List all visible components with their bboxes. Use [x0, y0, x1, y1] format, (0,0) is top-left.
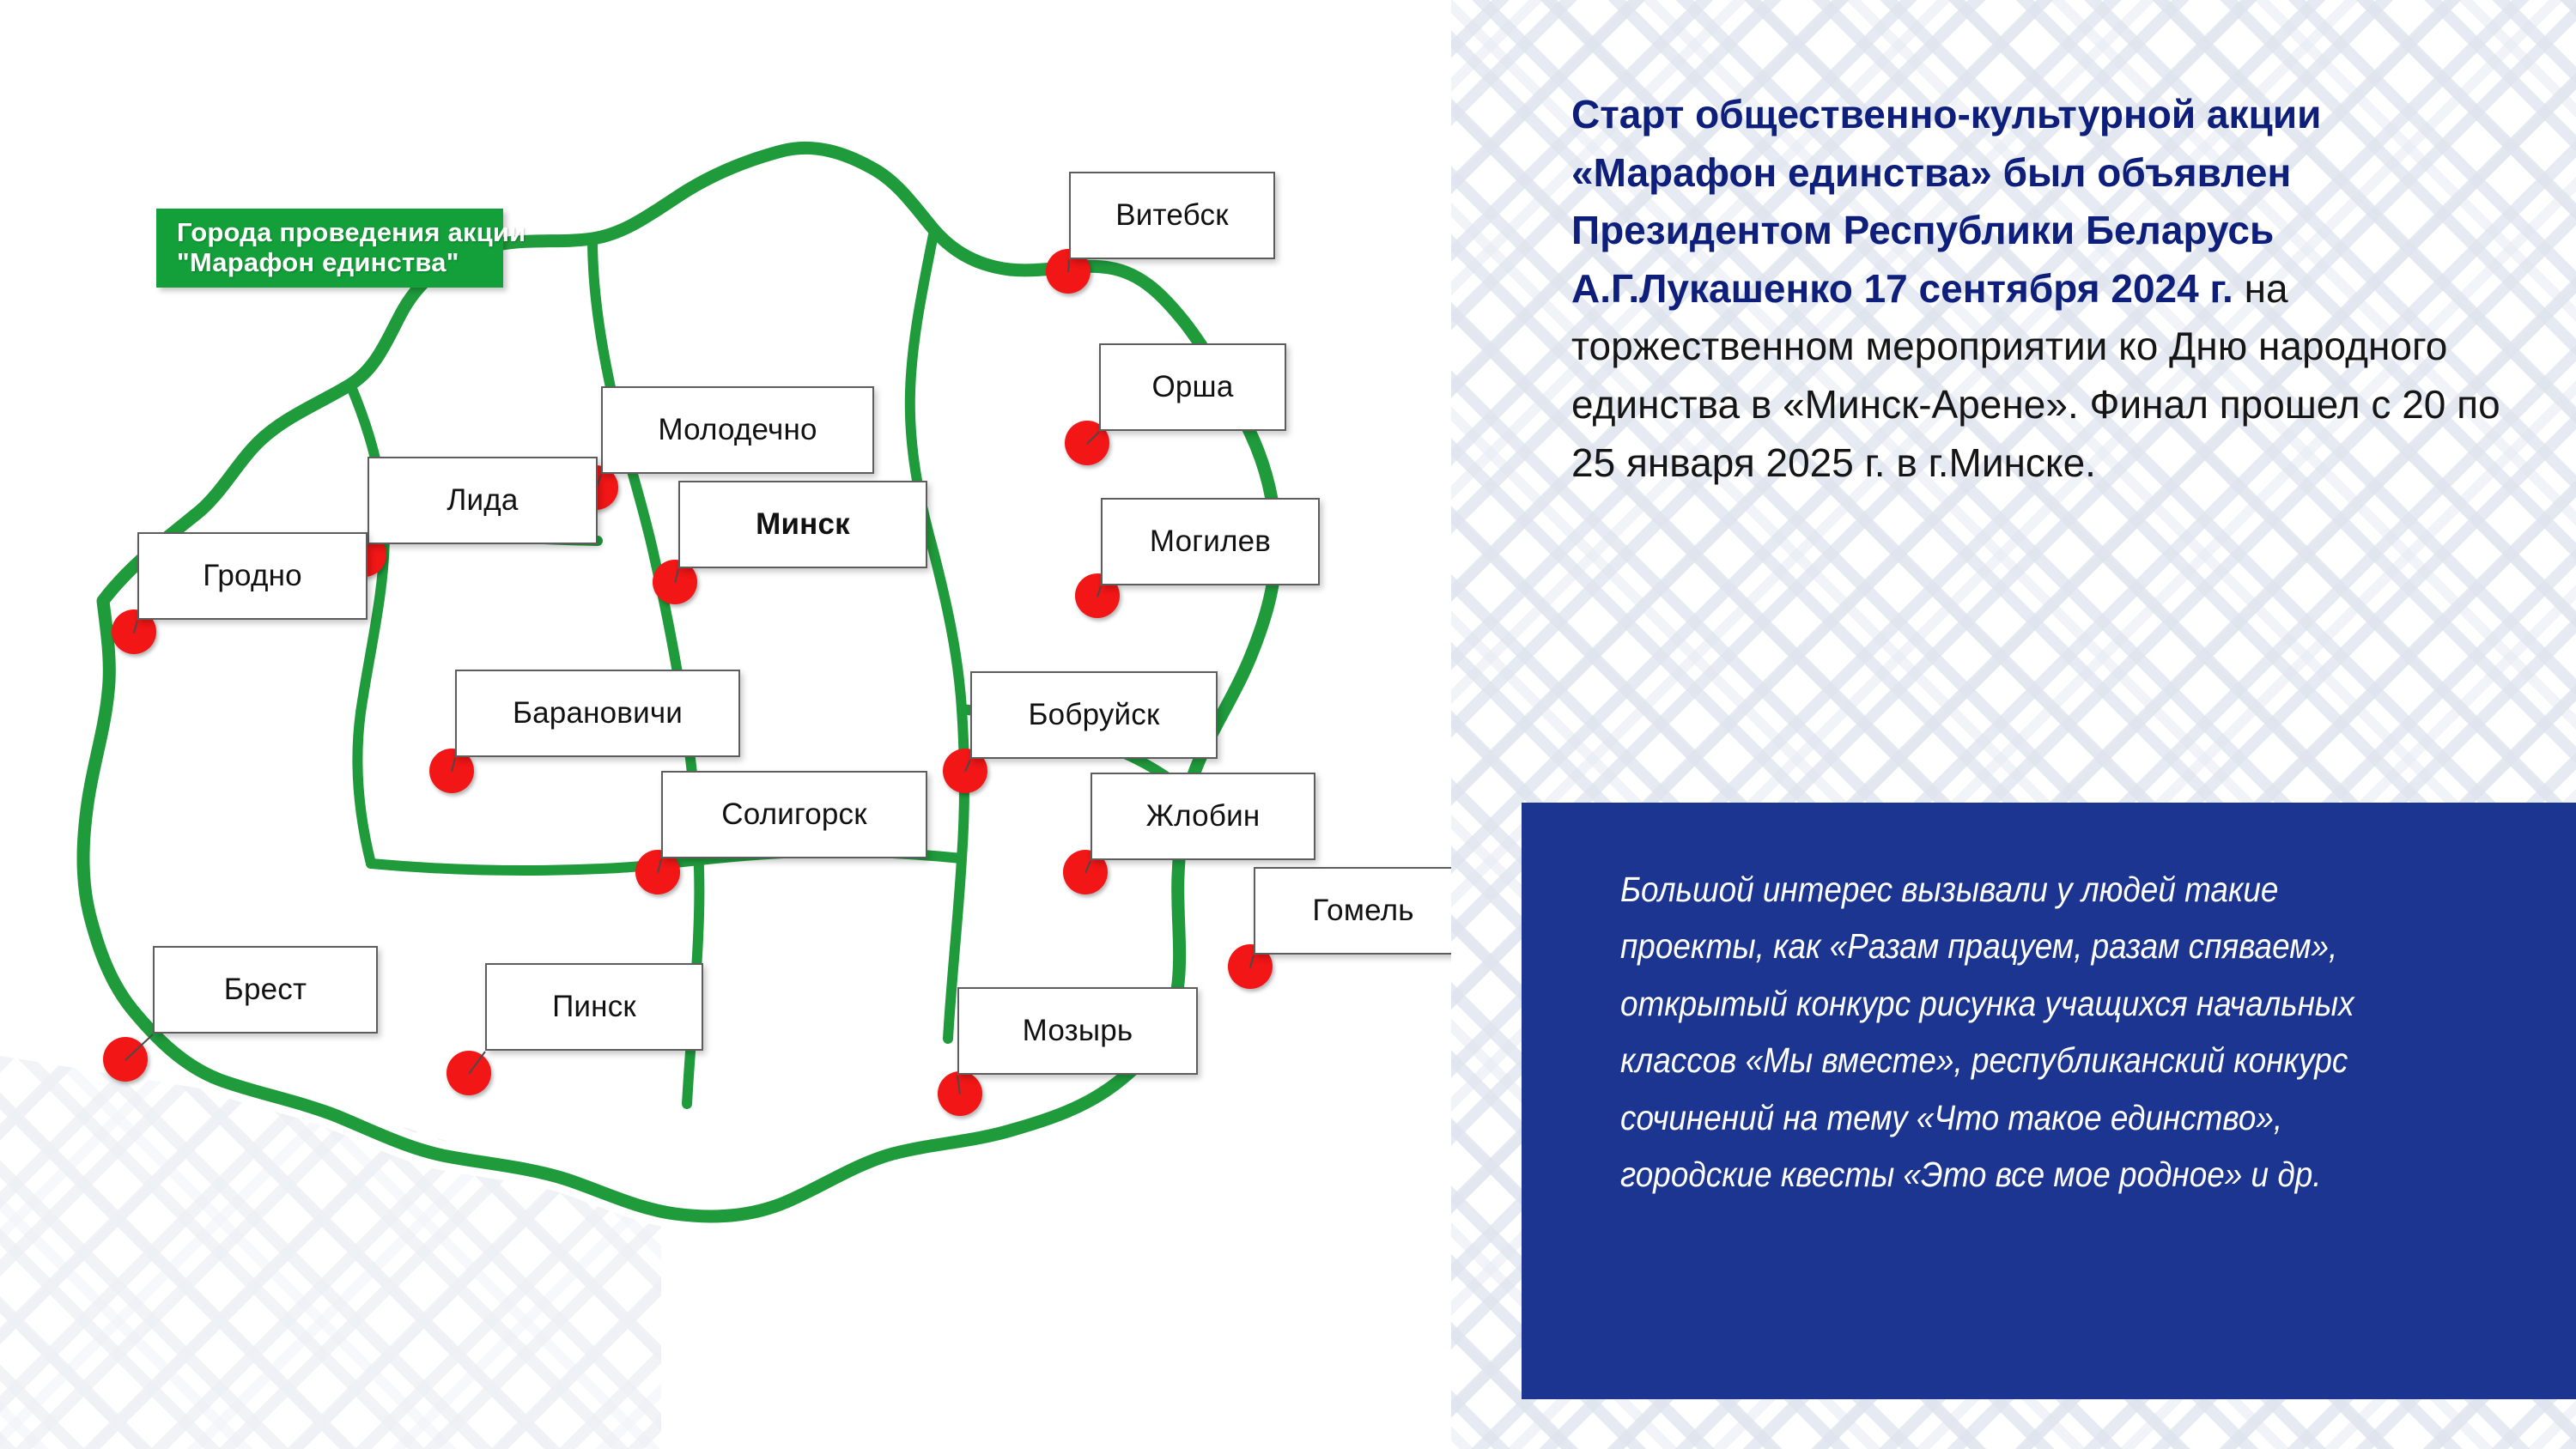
city-label: Могилев [1150, 524, 1271, 559]
right-text-panel: Старт общественно-культурной акции «Мара… [1571, 0, 2576, 1449]
city-label: Бобруйск [1028, 698, 1159, 732]
city-callout-13[interactable]: Пинск [485, 963, 703, 1051]
map-title-line1: Города проведения акции [177, 218, 503, 248]
city-callout-7[interactable]: Барановичи [455, 670, 740, 757]
city-label: Солигорск [721, 797, 867, 832]
city-label: Витебск [1115, 198, 1228, 233]
slide-root: Города проведения акции "Марафон единств… [0, 0, 2576, 1449]
quote-box: Большой интерес вызывали у людей такие п… [1522, 803, 2576, 1399]
city-callout-2[interactable]: Могилев [1101, 498, 1320, 585]
city-callout-10[interactable]: Жлобин [1091, 773, 1315, 860]
headline-paragraph: Старт общественно-культурной акции «Мара… [1571, 86, 2537, 492]
city-label: Жлобин [1146, 799, 1261, 834]
city-callout-14[interactable]: Мозырь [957, 987, 1198, 1075]
map-title-banner: Города проведения акции "Марафон единств… [156, 209, 503, 288]
city-callout-12[interactable]: Брест [153, 946, 378, 1034]
city-label: Лида [447, 483, 518, 518]
headline-bold-part: Старт общественно-культурной акции «Мара… [1571, 92, 2321, 311]
belarus-map-panel: Города проведения акции "Марафон единств… [0, 0, 1451, 1449]
city-callout-8[interactable]: Бобруйск [970, 671, 1218, 759]
city-label: Орша [1151, 370, 1233, 404]
city-label: Гомель [1312, 894, 1413, 928]
city-callout-6[interactable]: Гродно [137, 532, 368, 620]
city-label: Молодечно [658, 413, 817, 447]
city-label: Мозырь [1023, 1014, 1133, 1048]
city-callout-0[interactable]: Витебск [1069, 172, 1275, 259]
quote-text: Большой интерес вызывали у людей такие п… [1620, 861, 2393, 1203]
city-callout-9[interactable]: Солигорск [661, 771, 927, 858]
map-title-line2: "Марафон единства" [177, 248, 503, 278]
city-callout-4[interactable]: Минск [678, 481, 927, 568]
city-label: Гродно [203, 559, 302, 593]
city-label: Барановичи [513, 696, 683, 731]
city-callout-11[interactable]: Гомель [1254, 867, 1451, 955]
city-label: Пинск [552, 990, 636, 1024]
city-callout-3[interactable]: Молодечно [601, 386, 874, 474]
city-callout-1[interactable]: Орша [1099, 343, 1286, 431]
city-label: Брест [224, 973, 307, 1007]
city-label: Минск [756, 507, 850, 542]
city-callout-5[interactable]: Лида [368, 457, 598, 544]
